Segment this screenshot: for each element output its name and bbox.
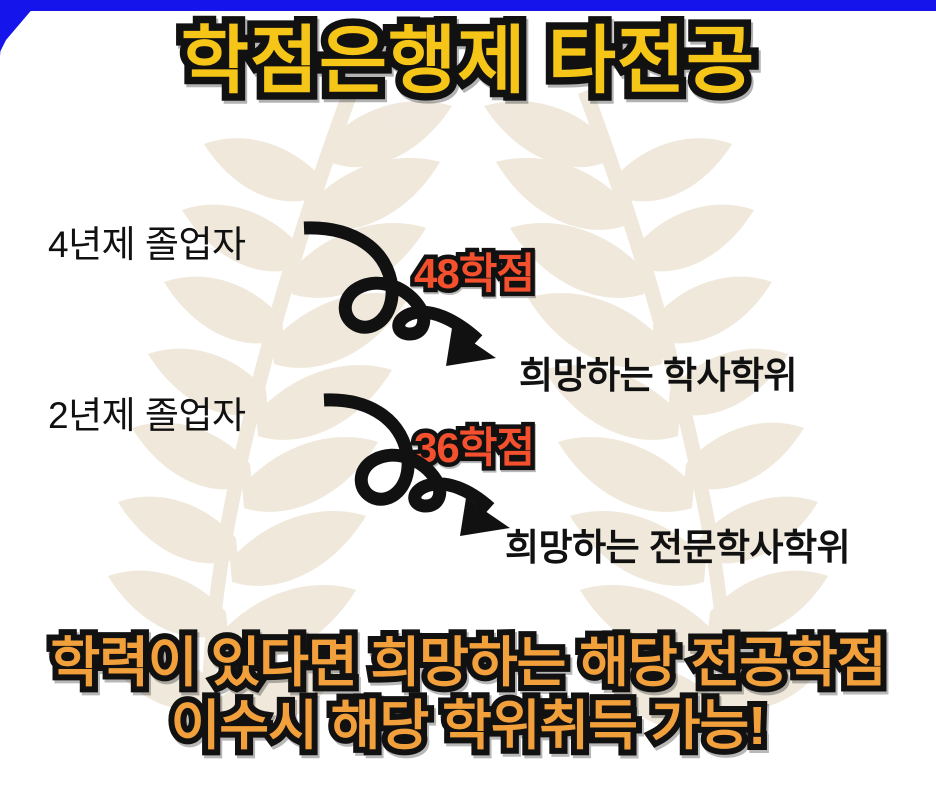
footer-slogan-line-1: 학력이 있다면 희망하는 해당 전공학점 bbox=[0, 632, 936, 695]
source-label-4year: 4년제 졸업자 bbox=[48, 214, 246, 268]
footer-slogan: 학력이 있다면 희망하는 해당 전공학점 이수시 해당 학위취득 가능! bbox=[0, 632, 936, 757]
page-title-text: 학점은행제 타전공 bbox=[181, 22, 755, 100]
poster-canvas: 학점은행제 타전공 4년제 졸업자 48학점 희망하는 학사학위 2년제 졸업자… bbox=[0, 0, 936, 808]
curly-arrow-2year bbox=[318, 390, 530, 550]
blue-top-bar bbox=[0, 0, 936, 11]
curly-arrow-4year bbox=[296, 216, 526, 376]
page-title: 학점은행제 타전공 bbox=[0, 8, 936, 114]
blue-corner-wedge bbox=[0, 0, 64, 64]
footer-slogan-line-2: 이수시 해당 학위취득 가능! bbox=[0, 695, 936, 758]
destination-label-associate: 희망하는 전문학사학위 bbox=[505, 517, 850, 571]
destination-label-bachelor: 희망하는 학사학위 bbox=[519, 345, 797, 399]
source-label-2year: 2년제 졸업자 bbox=[48, 385, 246, 439]
